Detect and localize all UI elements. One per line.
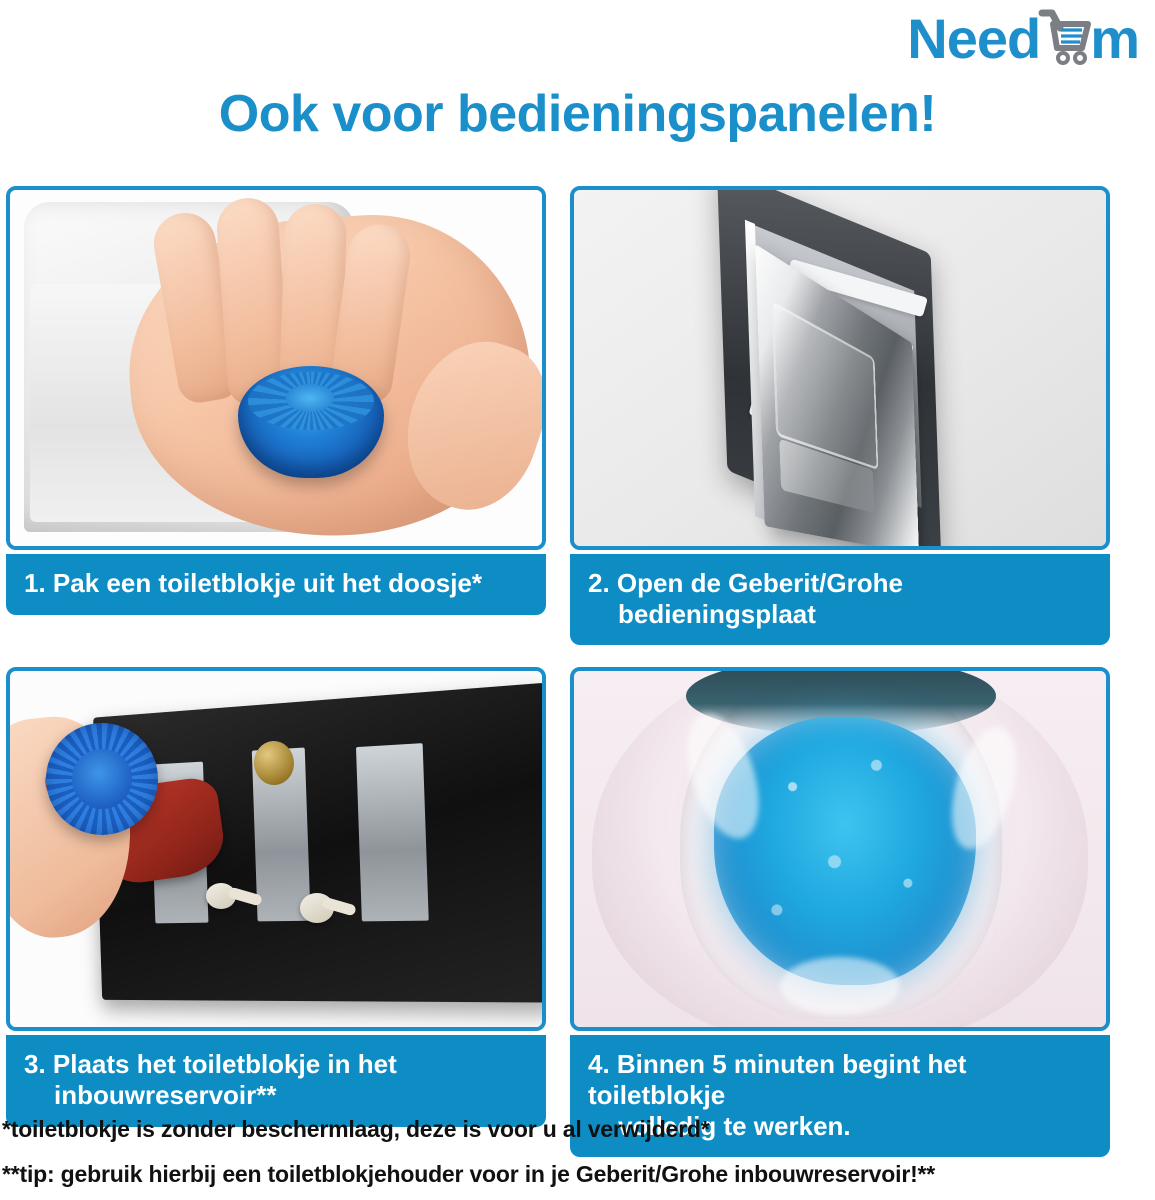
step-card-3: 3. Plaats het toiletblokje in het inbouw…	[6, 667, 546, 1157]
step-caption-3-line1: 3. Plaats het toiletblokje in het	[24, 1049, 530, 1080]
step-card-2: 2. Open de Geberit/Grohe bedieningsplaat	[570, 186, 1110, 645]
step-caption-3-line2: inbouwreservoir**	[24, 1080, 530, 1111]
step-card-1: 1. Pak een toiletblokje uit het doosje*	[6, 186, 546, 645]
blue-toilet-block	[238, 366, 384, 478]
step-caption-2: 2. Open de Geberit/Grohe bedieningsplaat	[570, 554, 1110, 645]
footnotes: *toiletblokje is zonder beschermlaag, de…	[2, 1118, 1152, 1186]
photo-hand-holding-toilet-block	[10, 190, 542, 546]
brand-logo[interactable]: Need m	[907, 6, 1139, 72]
cistern-slot-3	[356, 743, 429, 921]
steps-grid: 1. Pak een toiletblokje uit het doosje* …	[6, 186, 1149, 1157]
step-caption-4-line1: 4. Binnen 5 minuten begint het toiletblo…	[588, 1049, 1094, 1110]
blue-toilet-block	[46, 723, 158, 835]
blue-flush-water	[714, 717, 976, 985]
brand-name-part1: Need	[907, 11, 1040, 67]
photo-blue-water-in-toilet-bowl	[574, 671, 1106, 1027]
water-foam-bottom	[780, 957, 900, 1015]
brand-name-part2: m	[1090, 11, 1139, 67]
page-title: Ook voor bedieningspanelen!	[0, 88, 1155, 140]
footnote-1: *toiletblokje is zonder beschermlaag, de…	[2, 1118, 1152, 1141]
photo-place-block-in-cistern	[10, 671, 542, 1027]
step-caption-1-line1: 1. Pak een toiletblokje uit het doosje*	[24, 568, 530, 599]
step-image-frame-3	[6, 667, 546, 1031]
step-caption-3: 3. Plaats het toiletblokje in het inbouw…	[6, 1035, 546, 1126]
step-card-4: 4. Binnen 5 minuten begint het toiletblo…	[570, 667, 1110, 1157]
step-caption-1: 1. Pak een toiletblokje uit het doosje*	[6, 554, 546, 615]
step-image-frame-2	[570, 186, 1110, 550]
shopping-cart-icon	[1036, 8, 1092, 66]
step-image-frame-1	[6, 186, 546, 550]
step-caption-2-line1: 2. Open de Geberit/Grohe	[588, 568, 1094, 599]
step-caption-2-line2: bedieningsplaat	[588, 599, 1094, 630]
footnote-2: **tip: gebruik hierbij een toiletblokjeh…	[2, 1163, 1152, 1186]
step-image-frame-4	[570, 667, 1110, 1031]
header: Need m	[0, 0, 1155, 80]
photo-open-flush-plate	[574, 190, 1106, 546]
